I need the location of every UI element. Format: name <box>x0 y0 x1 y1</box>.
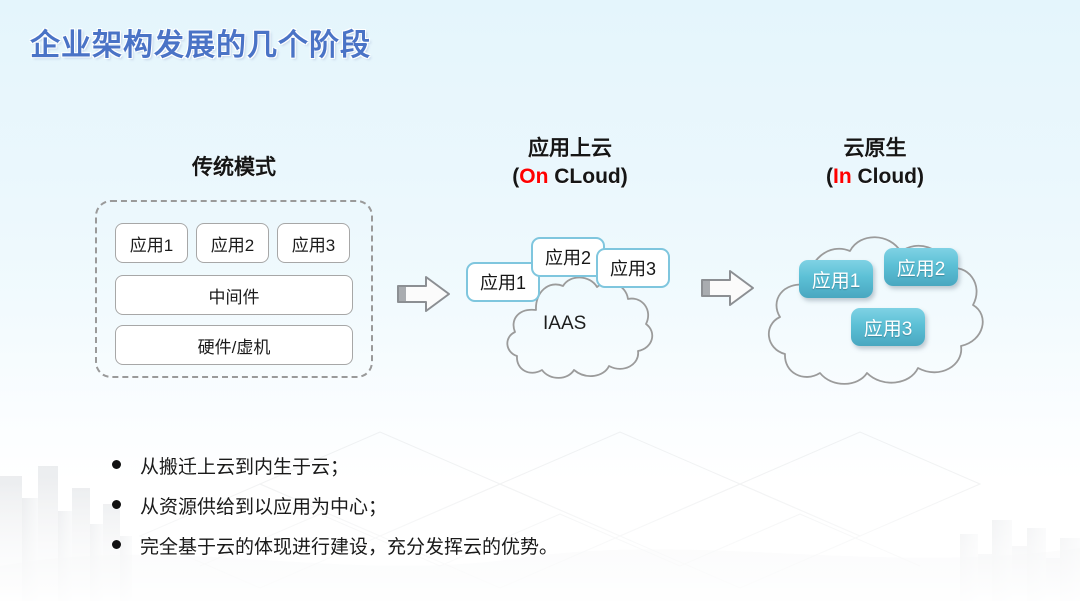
cloudnative-app-1[interactable]: 应用1 <box>799 260 873 298</box>
traditional-app-row: 应用1 应用2 应用3 <box>115 223 350 263</box>
oncloud-app-3[interactable]: 应用3 <box>596 248 670 288</box>
oncloud-app-1[interactable]: 应用1 <box>466 262 540 302</box>
bullet-item-3: 完全基于云的体现进行建设，充分发挥云的优势。 <box>112 532 558 559</box>
stage-heading-traditional: 传统模式 <box>95 154 373 182</box>
traditional-app-3[interactable]: 应用3 <box>277 223 350 263</box>
cloudnative-app-2-label: 应用2 <box>897 254 946 281</box>
cloudnative-sub-accent: In <box>833 165 852 188</box>
bullet-item-1-label: 从搬迁上云到内生于云； <box>140 457 349 478</box>
traditional-app-3-label: 应用3 <box>292 231 335 256</box>
cloudnative-app-3-label: 应用3 <box>864 314 913 341</box>
cloudnative-sub-rest: Cloud) <box>852 165 924 188</box>
summary-bullet-list: 从搬迁上云到内生于云； 从资源供给到以应用为中心； 完全基于云的体现进行建设，充… <box>112 452 558 572</box>
arrow-traditional-to-oncloud <box>396 274 452 314</box>
cloudnative-app-2[interactable]: 应用2 <box>884 248 958 286</box>
traditional-app-1-label: 应用1 <box>130 231 173 256</box>
oncloud-sub-rest: CLoud) <box>548 165 627 188</box>
cloudnative-sub-open: ( <box>826 165 833 188</box>
cloudnative-app-3[interactable]: 应用3 <box>851 308 925 346</box>
slide-canvas: 企业架构发展的几个阶段 传统模式 应用1 应用2 应用3 中间件 硬件/虚机 应… <box>0 0 1080 601</box>
cloudnative-app-1-label: 应用1 <box>812 266 861 293</box>
bullet-item-2-label: 从资源供给到以应用为中心； <box>140 497 387 518</box>
iaas-cloud-label: IAAS <box>543 313 586 335</box>
traditional-app-2[interactable]: 应用2 <box>196 223 269 263</box>
stage-heading-traditional-label: 传统模式 <box>192 156 276 179</box>
traditional-app-2-label: 应用2 <box>211 231 254 256</box>
stage-heading-cloudnative-sub: (In Cloud) <box>745 163 1005 191</box>
oncloud-app-2[interactable]: 应用2 <box>531 237 605 277</box>
traditional-hardware-label: 硬件/虚机 <box>198 333 271 358</box>
oncloud-app-2-label: 应用2 <box>545 244 591 270</box>
traditional-middleware-box[interactable]: 中间件 <box>115 275 353 315</box>
traditional-app-1[interactable]: 应用1 <box>115 223 188 263</box>
stage-heading-oncloud: 应用上云 (On CLoud) <box>440 135 700 191</box>
bullet-item-3-label: 完全基于云的体现进行建设，充分发挥云的优势。 <box>140 537 558 558</box>
bullet-dot-icon <box>112 460 121 469</box>
stage-heading-cloudnative-label: 云原生 <box>844 137 907 160</box>
traditional-middleware-label: 中间件 <box>209 283 260 308</box>
bullet-dot-icon <box>112 540 121 549</box>
oncloud-app-1-label: 应用1 <box>480 269 526 295</box>
arrow-oncloud-to-cloudnative <box>700 268 756 308</box>
bullet-item-2: 从资源供给到以应用为中心； <box>112 492 558 519</box>
traditional-hardware-box[interactable]: 硬件/虚机 <box>115 325 353 365</box>
bullet-dot-icon <box>112 500 121 509</box>
cloudnative-cloud-shape <box>760 215 1025 387</box>
bullet-item-1: 从搬迁上云到内生于云； <box>112 452 558 479</box>
stage-heading-cloudnative: 云原生 (In Cloud) <box>745 135 1005 191</box>
oncloud-app-3-label: 应用3 <box>610 255 656 281</box>
oncloud-sub-accent: On <box>519 165 548 188</box>
page-title: 企业架构发展的几个阶段 <box>30 20 371 64</box>
stage-heading-oncloud-label: 应用上云 <box>528 137 612 160</box>
stage-heading-oncloud-sub: (On CLoud) <box>440 163 700 191</box>
